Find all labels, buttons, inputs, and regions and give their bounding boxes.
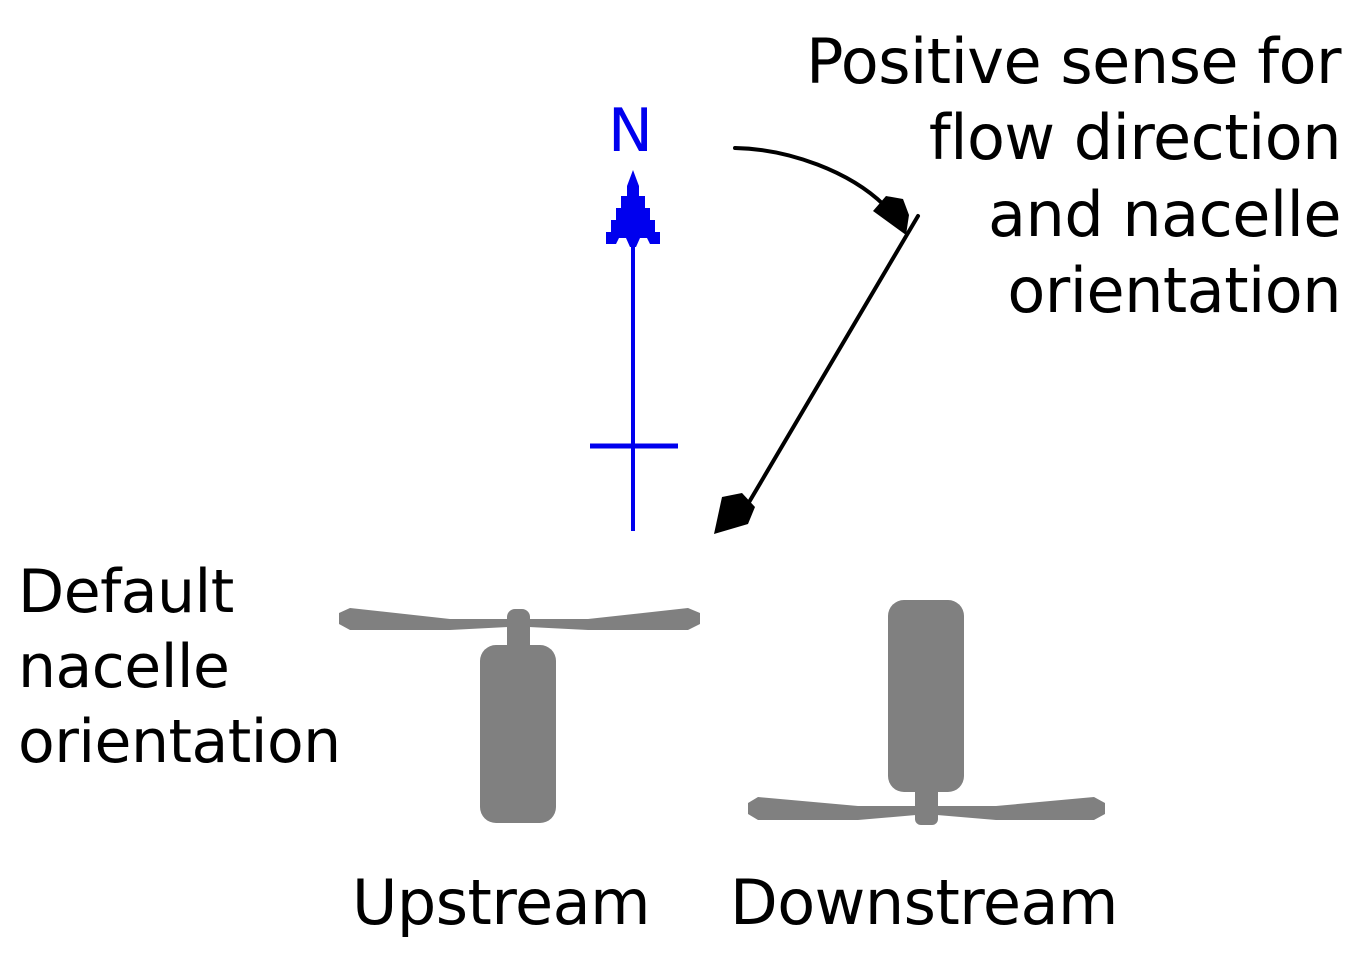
annotation-default-nacelle: Default nacelle orientation: [18, 555, 398, 780]
caption-upstream: Upstream: [352, 866, 650, 939]
turbine-upstream-hub: [507, 609, 530, 653]
diagram-canvas: N Positive sense for flow direction and …: [0, 0, 1371, 954]
caption-downstream: Downstream: [730, 866, 1118, 939]
turbine-downstream-blade-left: [748, 797, 916, 820]
annotation-positive-sense: Positive sense for flow direction and na…: [741, 24, 1341, 329]
turbine-downstream-blade-right: [937, 797, 1105, 820]
turbine-downstream-hub: [915, 785, 938, 825]
turbine-downstream: [748, 600, 1105, 825]
compass-north-label: N: [608, 96, 652, 166]
turbine-upstream-blade-right: [529, 608, 700, 630]
turbine-downstream-nacelle-body: [888, 600, 964, 792]
turbine-upstream-nacelle-body: [480, 645, 556, 823]
